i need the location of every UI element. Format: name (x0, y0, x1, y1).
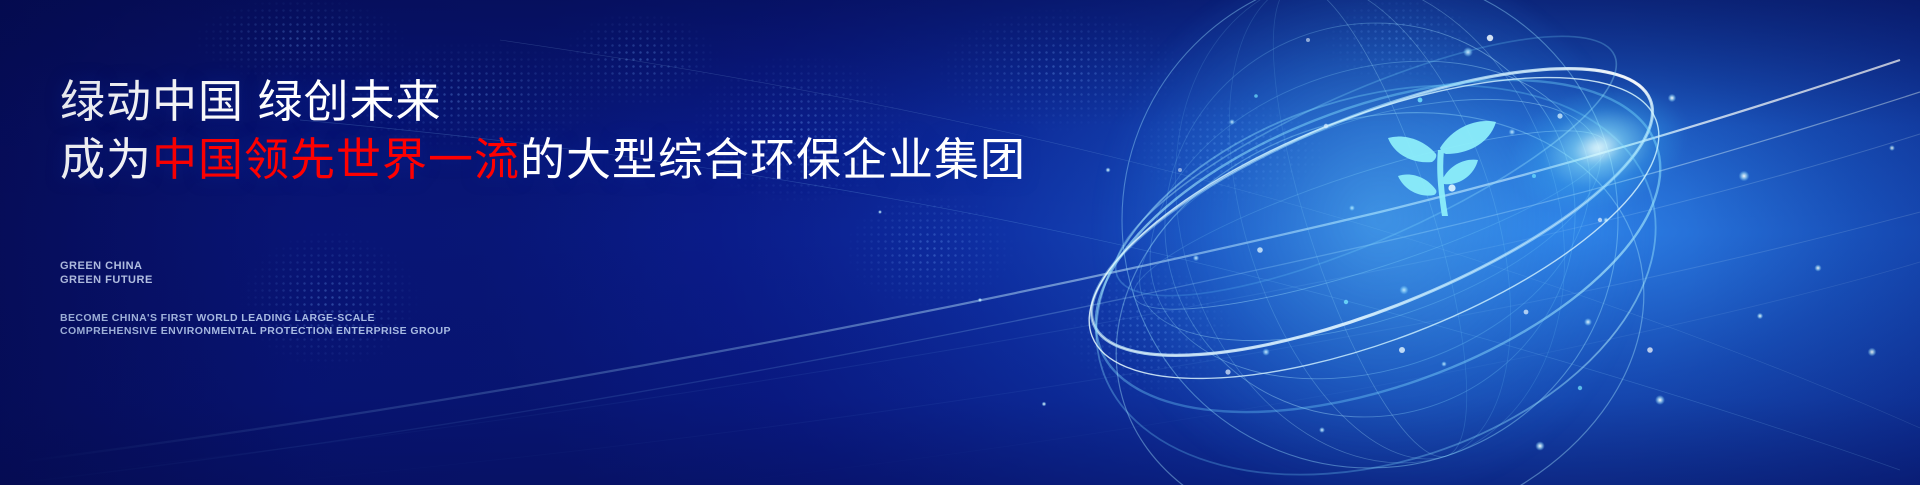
headline-suffix: 的大型综合环保企业集团 (520, 134, 1026, 185)
subline-line-2: COMPREHENSIVE ENVIRONMENTAL PROTECTION E… (60, 325, 451, 338)
headline-highlight: 中国领先世界一流 (152, 134, 520, 185)
subline-line-1: BECOME CHINA'S FIRST WORLD LEADING LARGE… (60, 312, 451, 325)
tagline-line-2: GREEN FUTURE (60, 273, 153, 287)
sprout-leaf-icon (1380, 98, 1500, 223)
headline-line-1: 绿动中国 绿创未来 (60, 74, 1060, 130)
subline-block: BECOME CHINA'S FIRST WORLD LEADING LARGE… (60, 312, 451, 338)
headline-prefix: 成为 (60, 134, 152, 185)
tagline-block: GREEN CHINA GREEN FUTURE (60, 259, 153, 287)
headline-block: 绿动中国 绿创未来 成为中国领先世界一流的大型综合环保企业集团 (60, 74, 1060, 188)
headline-line-2: 成为中国领先世界一流的大型综合环保企业集团 (60, 132, 1060, 188)
tagline-line-1: GREEN CHINA (60, 259, 153, 273)
wireframe-globe-graphic (1060, 0, 1680, 485)
hero-banner: 绿动中国 绿创未来 成为中国领先世界一流的大型综合环保企业集团 GREEN CH… (0, 0, 1920, 485)
globe-glow (1100, 0, 1640, 485)
